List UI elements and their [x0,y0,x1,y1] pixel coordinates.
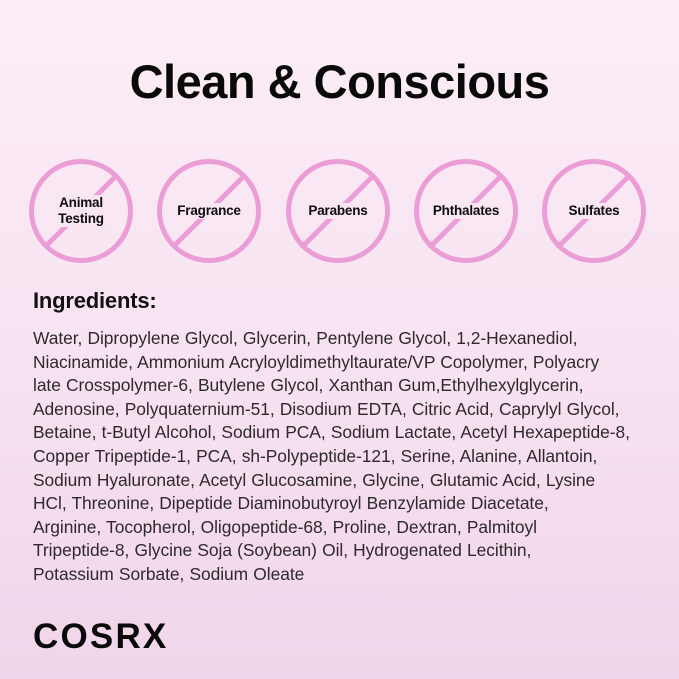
ingredients-line: Adenosine, Polyquaternium-51, Disodium E… [33,398,651,422]
badge-sulfates: Sulfates [541,158,647,264]
ingredients-heading: Ingredients: [33,288,157,314]
free-from-badge-row: Animal Testing Fragrance Parabens [0,158,679,266]
page-title: Clean & Conscious [0,56,679,108]
ingredients-line: Niacinamide, Ammonium Acryloyldimethylta… [33,351,651,375]
no-sign-icon [541,158,647,264]
product-info-card: Clean & Conscious Animal Testing Fragran… [0,0,679,679]
badge-parabens: Parabens [285,158,391,264]
ingredients-line: HCl, Threonine, Dipeptide Diaminobutyroy… [33,492,651,516]
ingredients-line: Copper Tripeptide-1, PCA, sh-Polypeptide… [33,445,651,469]
no-sign-icon [413,158,519,264]
ingredients-line: Water, Dipropylene Glycol, Glycerin, Pen… [33,327,651,351]
ingredients-line: Arginine, Tocopherol, Oligopeptide-68, P… [33,516,651,540]
brand-logo: COSRX [33,619,168,654]
no-sign-icon [156,158,262,264]
ingredients-line: Potassium Sorbate, Sodium Oleate [33,563,651,587]
ingredients-line: Tripeptide-8, Glycine Soja (Soybean) Oil… [33,539,651,563]
ingredients-line: Betaine, t-Butyl Alcohol, Sodium PCA, So… [33,421,651,445]
ingredients-line: Sodium Hyaluronate, Acetyl Glucosamine, … [33,469,651,493]
badge-animal-testing: Animal Testing [28,158,134,264]
no-sign-icon [28,158,134,264]
ingredients-line: late Crosspolymer-6, Butylene Glycol, Xa… [33,374,651,398]
ingredients-list: Water, Dipropylene Glycol, Glycerin, Pen… [33,327,651,587]
badge-fragrance: Fragrance [156,158,262,264]
badge-phthalates: Phthalates [413,158,519,264]
no-sign-icon [285,158,391,264]
